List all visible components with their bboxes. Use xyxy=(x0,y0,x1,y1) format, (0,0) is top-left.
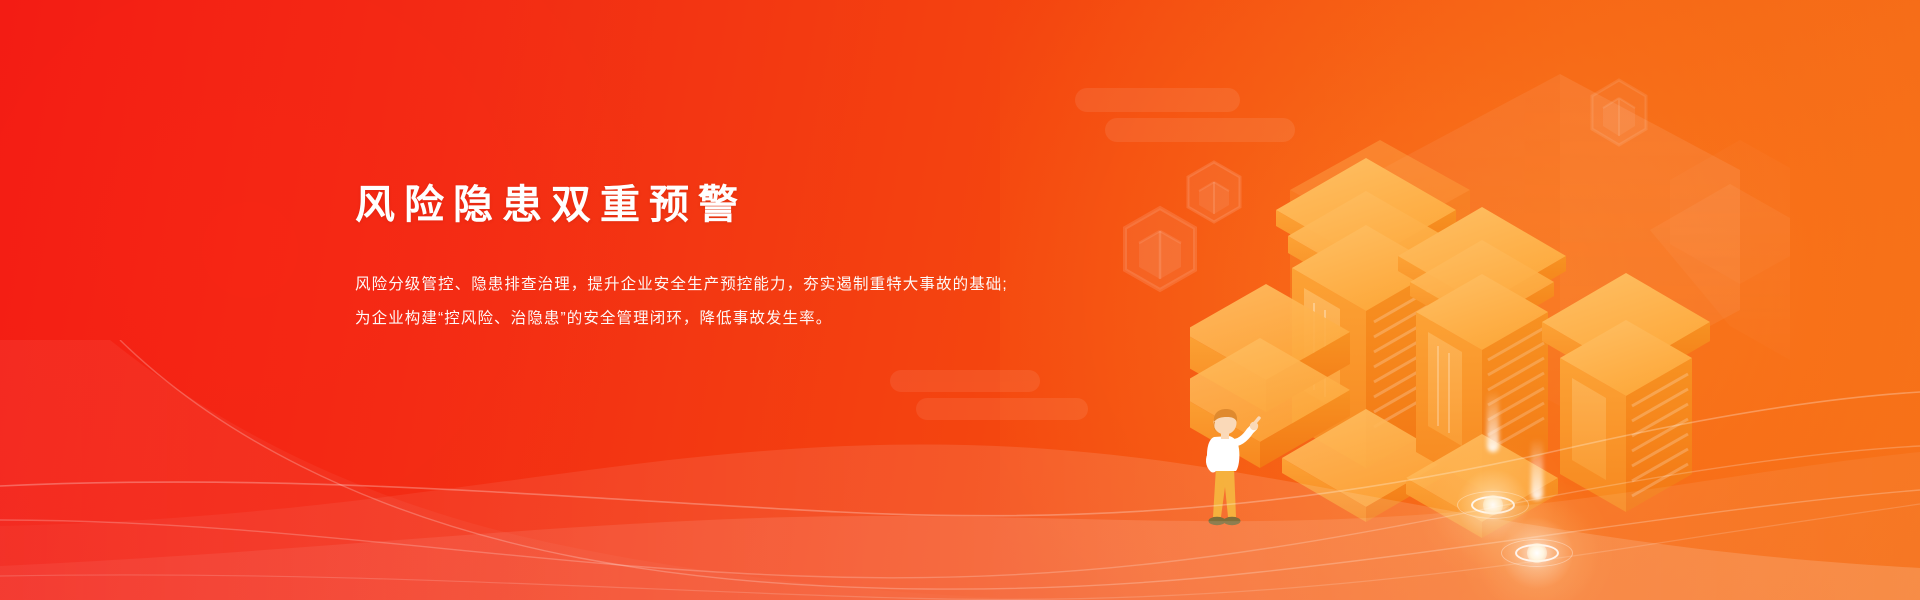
glow-orb-icon xyxy=(1462,478,1612,600)
subtitle-line-1: 风险分级管控、隐患排查治理，提升企业安全生产预控能力，夯实遏制重特大事故的基础; xyxy=(355,268,1075,302)
subtitle-line-2: 为企业构建“控风险、治隐患”的安全管理闭环，降低事故发生率。 xyxy=(355,302,1075,336)
cloud-bar xyxy=(1075,88,1240,112)
orb-halo xyxy=(1462,478,1612,600)
hero-banner: 风险隐患双重预警 风险分级管控、隐患排查治理，提升企业安全生产预控能力，夯实遏制… xyxy=(0,0,1920,600)
orb-core xyxy=(1483,495,1503,515)
orb-ring xyxy=(1515,544,1559,562)
orb-halo xyxy=(1418,430,1568,580)
orb-core xyxy=(1527,543,1547,563)
isometric-city-illustration xyxy=(1230,60,1790,520)
hexagon-cube-icon xyxy=(1185,160,1243,224)
orb-ring-outer xyxy=(1501,539,1573,567)
banner-copy: 风险隐患双重预警 风险分级管控、隐患排查治理，提升企业安全生产预控能力，夯实遏制… xyxy=(355,180,1075,336)
background-glow-right xyxy=(1000,0,1920,600)
orb-ring xyxy=(1471,496,1515,514)
orb-ring-outer xyxy=(1457,491,1529,519)
hexagon-cube-icon xyxy=(1588,78,1650,148)
bottom-wave-decoration xyxy=(0,340,1920,600)
glow-orb-icon xyxy=(1418,430,1568,580)
cloud-bar xyxy=(890,370,1040,392)
cloud-bar xyxy=(916,398,1088,420)
cloud-bar xyxy=(1105,118,1295,142)
orb-beam xyxy=(1487,390,1499,452)
orb-beam xyxy=(1531,438,1543,500)
hexagon-cube-icon xyxy=(1120,205,1200,293)
person-pointing-illustration xyxy=(1196,405,1266,535)
cloud-icon xyxy=(1075,88,1295,158)
page-title: 风险隐患双重预警 xyxy=(355,180,1075,230)
cloud-icon xyxy=(890,370,1090,432)
banner-subtitle: 风险分级管控、隐患排查治理，提升企业安全生产预控能力，夯实遏制重特大事故的基础;… xyxy=(355,268,1075,336)
